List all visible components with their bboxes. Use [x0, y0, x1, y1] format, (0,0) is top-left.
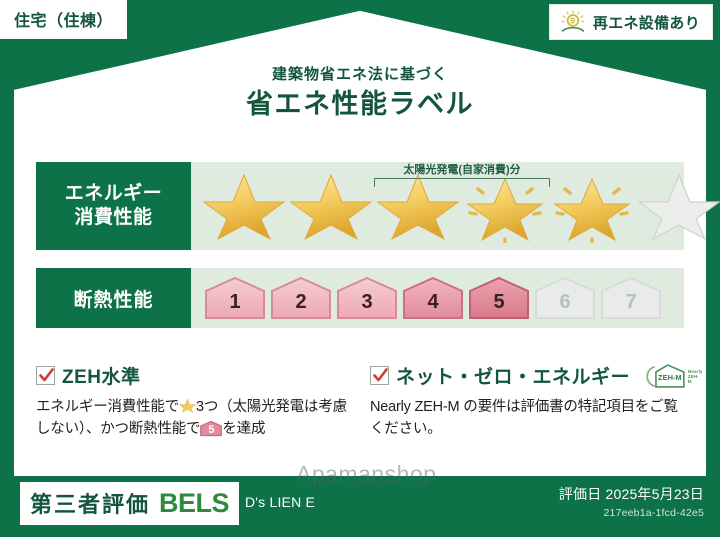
insulation-level-1: 1 — [204, 276, 266, 320]
check-icon — [372, 367, 389, 384]
energy-label-line2: 消費性能 — [36, 206, 191, 230]
building-type-label: 住宅（住棟） — [14, 13, 113, 30]
page-title: 建築物省エネ法に基づく 省エネ性能ラベル — [0, 66, 720, 122]
inline-star-icon — [179, 397, 196, 414]
footer-bar: 第三者評価 BELS D's LIEN E 評価日 2025年5月23日 217… — [0, 476, 720, 537]
net-zero-energy-section: ネット・ゼロ・エネルギー ZEH-M Nearly ZEH-M Nearly Z… — [370, 362, 686, 441]
net-zero-energy-body: Nearly ZEH-M の要件は評価書の特記項目をご覧ください。 — [370, 396, 686, 441]
evaluation-id: 217eeb1a-1fcd-42e5 — [559, 507, 704, 519]
net-zero-energy-checkbox — [370, 366, 389, 385]
zeh-body-part1: エネルギー消費性能で — [36, 399, 179, 415]
third-party-evaluation-badge: 第三者評価 BELS — [20, 482, 239, 525]
star-filled-sparkle-icon — [551, 169, 633, 243]
insulation-level-2-number: 2 — [270, 276, 332, 320]
star-1 — [203, 169, 285, 243]
energy-label-line1: エネルギー — [36, 182, 191, 206]
third-party-label: 第三者評価 — [30, 487, 150, 519]
property-name: D's LIEN E — [245, 494, 315, 510]
insulation-label-text: 断熱性能 — [36, 285, 191, 312]
insulation-level-2: 2 — [270, 276, 332, 320]
sun-icon — [558, 9, 588, 35]
insulation-level-1-number: 1 — [204, 276, 266, 320]
title-subtitle: 建築物省エネ法に基づく — [0, 66, 720, 84]
zeh-m-logo-sub: Nearly ZEH-M — [688, 369, 703, 389]
renewable-energy-label: 再エネ設備あり — [593, 12, 700, 33]
insulation-scale: 1 2 3 — [191, 268, 684, 328]
star-3 — [377, 169, 459, 243]
star-2 — [290, 169, 372, 243]
zeh-m-house-icon: ZEH-M — [641, 363, 687, 389]
energy-performance-label: 住宅（住棟） 再エネ設備あり 建築物省エネ法に基づく 省エネ性能ラベル エネル — [0, 0, 720, 537]
insulation-level-6-number: 6 — [534, 276, 596, 320]
star-empty-icon — [638, 169, 720, 243]
building-type-tag: 住宅（住棟） — [0, 0, 130, 39]
bels-logo-text: BELS — [159, 488, 229, 519]
star-rating — [191, 162, 720, 250]
insulation-level-7-number: 7 — [600, 276, 662, 320]
insulation-level-5: 5 — [468, 276, 530, 320]
energy-performance-row: エネルギー 消費性能 太陽光発電(自家消費)分 — [36, 162, 684, 250]
insulation-level-5-number: 5 — [468, 276, 530, 320]
inline-house-number: 5 — [200, 420, 222, 437]
insulation-level-3: 3 — [336, 276, 398, 320]
insulation-level-3-number: 3 — [336, 276, 398, 320]
zeh-standard-header: ZEH水準 — [36, 362, 352, 389]
zeh-standard-title: ZEH水準 — [62, 362, 141, 389]
star-4-solar — [464, 169, 546, 243]
evaluation-date: 評価日 2025年5月23日 — [559, 484, 704, 504]
title-main: 省エネ性能ラベル — [0, 86, 720, 122]
renewable-energy-badge: 再エネ設備あり — [549, 4, 713, 40]
energy-rating-content: 太陽光発電(自家消費)分 — [191, 162, 720, 250]
zeh-m-sub-line2: ZEH-M — [688, 374, 699, 384]
certification-sections: ZEH水準 エネルギー消費性能で3つ（太陽光発電は考慮しない）、かつ断熱性能で5… — [36, 362, 688, 441]
inline-house-level: 5 — [200, 420, 222, 437]
star-filled-icon — [377, 169, 459, 243]
svg-text:ZEH-M: ZEH-M — [658, 372, 682, 381]
zeh-standard-section: ZEH水準 エネルギー消費性能で3つ（太陽光発電は考慮しない）、かつ断熱性能で5… — [36, 362, 352, 441]
zeh-standard-checkbox — [36, 366, 55, 385]
insulation-performance-row: 断熱性能 1 — [36, 268, 684, 328]
net-zero-energy-title: ネット・ゼロ・エネルギー — [396, 362, 630, 389]
insulation-level-7: 7 — [600, 276, 662, 320]
star-filled-icon — [203, 169, 285, 243]
insulation-level-4: 4 — [402, 276, 464, 320]
star-filled-icon — [290, 169, 372, 243]
insulation-level-4-number: 4 — [402, 276, 464, 320]
star-filled-sparkle-icon — [464, 169, 546, 243]
star-6-empty — [638, 169, 720, 243]
star-5-solar — [551, 169, 633, 243]
energy-performance-label: エネルギー 消費性能 — [36, 162, 191, 250]
insulation-level-6: 6 — [534, 276, 596, 320]
zeh-star-count: 3つ — [196, 399, 218, 415]
insulation-performance-label: 断熱性能 — [36, 268, 191, 328]
net-zero-energy-header: ネット・ゼロ・エネルギー ZEH-M Nearly ZEH-M — [370, 362, 686, 389]
zeh-standard-body: エネルギー消費性能で3つ（太陽光発電は考慮しない）、かつ断熱性能で5を達成 — [36, 396, 352, 441]
check-icon — [38, 367, 55, 384]
evaluation-meta: 評価日 2025年5月23日 217eeb1a-1fcd-42e5 — [559, 484, 704, 519]
zeh-body-part3: を達成 — [222, 421, 265, 437]
zeh-m-logo: ZEH-M Nearly ZEH-M — [641, 363, 703, 389]
insulation-rating-content: 1 2 3 — [191, 268, 684, 328]
